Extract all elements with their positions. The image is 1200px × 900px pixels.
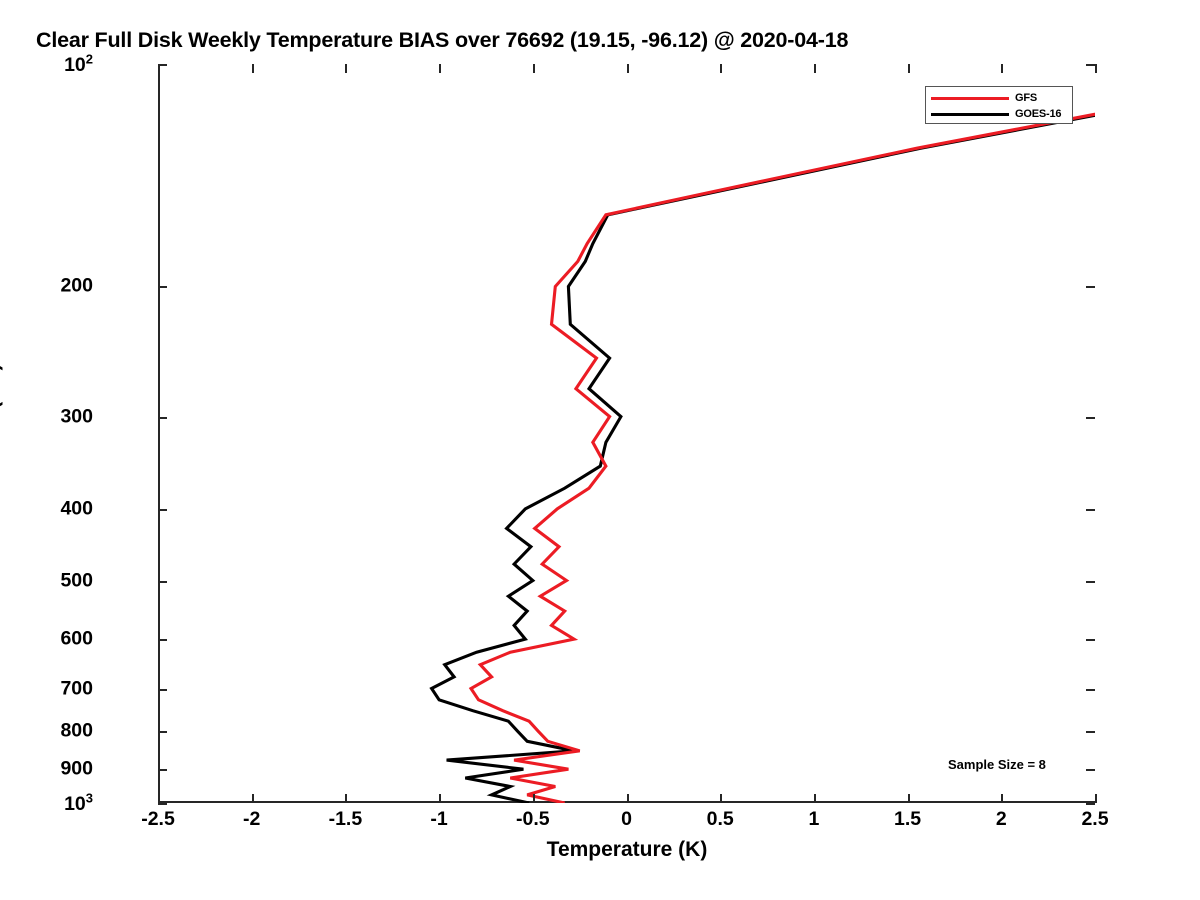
y-tick-label-4: 500 [60,569,93,592]
legend-label-gfs: GFS [1015,92,1037,104]
x-tick-label-6: 0.5 [707,808,734,831]
chart-canvas: Clear Full Disk Weekly Temperature BIAS … [0,0,1200,900]
x-tick-top-6 [720,64,722,73]
x-tick-2 [345,794,347,803]
x-tick-5 [627,794,629,803]
legend: GFS GOES-16 [925,86,1073,124]
y-tick-6 [158,689,167,691]
x-axis-title: Temperature (K) [547,838,708,862]
x-tick-1 [252,794,254,803]
y-tick-5 [158,639,167,641]
series-layer [158,64,1095,803]
x-tick-10 [1095,794,1097,803]
y-tick-label-9: 103 [64,790,93,816]
legend-label-goes16: GOES-16 [1015,108,1061,120]
y-tick-4 [158,581,167,583]
y-tick-right-7 [1086,731,1095,733]
y-tick-1 [158,286,167,288]
y-tick-right-0 [1086,64,1095,66]
x-tick-label-4: -0.5 [516,808,550,831]
legend-item-gfs: GFS [931,90,1067,106]
y-tick-label-6: 700 [60,677,93,700]
y-tick-label-3: 400 [60,497,93,520]
y-tick-7 [158,731,167,733]
x-tick-label-7: 1 [808,808,819,831]
x-tick-label-5: 0 [621,808,632,831]
y-tick-0 [158,64,167,66]
x-tick-7 [814,794,816,803]
profile-lines [158,64,1095,803]
x-tick-label-9: 2 [996,808,1007,831]
y-tick-label-2: 300 [60,405,93,428]
x-tick-label-8: 1.5 [894,808,921,831]
x-tick-label-10: 2.5 [1081,808,1108,831]
x-tick-8 [908,794,910,803]
plot-area [158,64,1095,803]
y-tick-label-1: 200 [60,275,93,298]
y-tick-right-5 [1086,639,1095,641]
y-tick-right-2 [1086,417,1095,419]
y-tick-right-1 [1086,286,1095,288]
x-tick-0 [158,794,160,803]
y-tick-right-6 [1086,689,1095,691]
y-tick-label-0: 102 [64,51,93,77]
x-tick-6 [720,794,722,803]
series-line-goes16 [432,64,1095,803]
x-tick-9 [1001,794,1003,803]
x-tick-top-4 [533,64,535,73]
series-line-gfs [471,64,1095,803]
x-tick-3 [439,794,441,803]
y-tick-8 [158,769,167,771]
y-tick-label-7: 800 [60,720,93,743]
y-tick-right-4 [1086,581,1095,583]
x-tick-label-0: -2.5 [141,808,175,831]
x-tick-top-9 [1001,64,1003,73]
x-tick-label-3: -1 [430,808,447,831]
x-tick-top-3 [439,64,441,73]
legend-item-goes16: GOES-16 [931,106,1067,122]
x-tick-top-2 [345,64,347,73]
y-tick-3 [158,509,167,511]
y-tick-2 [158,417,167,419]
y-tick-9 [158,803,167,805]
y-tick-right-3 [1086,509,1095,511]
x-tick-top-5 [627,64,629,73]
legend-swatch-goes16 [931,113,1009,116]
x-tick-top-7 [814,64,816,73]
legend-swatch-gfs [931,97,1009,100]
x-tick-top-8 [908,64,910,73]
sample-size-annotation: Sample Size = 8 [948,757,1046,772]
x-tick-label-1: -2 [243,808,260,831]
x-tick-top-10 [1095,64,1097,73]
y-tick-label-8: 900 [60,758,93,781]
y-axis-title: Pressure (mb) [0,363,4,504]
y-tick-right-8 [1086,769,1095,771]
x-tick-4 [533,794,535,803]
x-tick-label-2: -1.5 [329,808,363,831]
y-tick-label-5: 600 [60,628,93,651]
x-tick-top-1 [252,64,254,73]
y-tick-right-9 [1086,803,1095,805]
chart-title: Clear Full Disk Weekly Temperature BIAS … [36,28,1200,53]
